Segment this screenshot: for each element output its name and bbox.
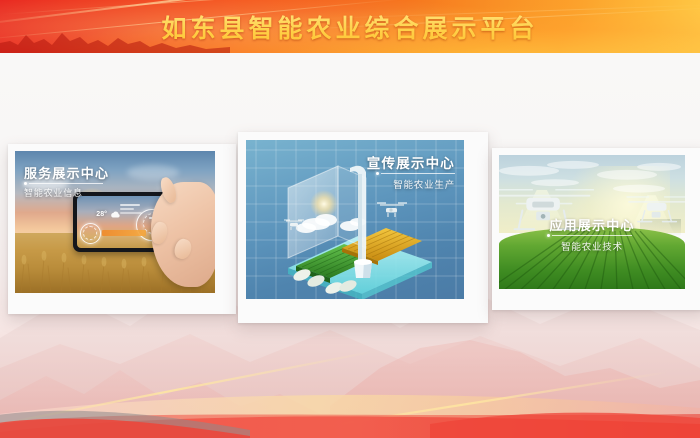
drone-icon-right [377, 203, 407, 217]
card-service-artwork: 28° 服务展示中心 智能农业信息 [15, 151, 215, 293]
card-service-title: 服务展示中心 [24, 163, 109, 182]
page-root: 如东县智能农业综合展示平台 [0, 0, 700, 438]
hud-bar [120, 204, 140, 206]
card-service-subtitle: 智能农业信息 [24, 186, 83, 199]
card-promotion-center[interactable]: 宣传展示中心 智能农业生产 [238, 132, 488, 323]
title-underline [552, 235, 632, 236]
temperature-readout: 28° [96, 211, 107, 218]
title-underline [381, 173, 455, 174]
hud-bar [120, 208, 134, 210]
title-underline [29, 183, 103, 184]
card-promotion-title: 宣传展示中心 [367, 152, 455, 172]
card-promotion-artwork: 宣传展示中心 智能农业生产 [246, 140, 464, 299]
rule-dot [24, 182, 27, 185]
rule-dot [547, 234, 550, 237]
hud-bar [120, 212, 142, 214]
card-application-subtitle: 智能农业技术 [499, 239, 685, 253]
data-chip-bar [102, 230, 146, 236]
hud-ring-icon [83, 226, 97, 240]
header-banner: 如东县智能农业综合展示平台 [0, 0, 700, 53]
card-service-center[interactable]: 28° 服务展示中心 智能农业信息 [8, 144, 236, 314]
page-title: 如东县智能农业综合展示平台 [0, 0, 700, 53]
card-application-center[interactable]: 应用展示中心 智能农业技术 [492, 148, 700, 310]
rule-dot [376, 172, 379, 175]
weather-cloud-icon [110, 210, 121, 219]
card-promotion-subtitle: 智能农业生产 [393, 177, 455, 191]
card-application-title: 应用展示中心 [499, 215, 685, 234]
card-application-artwork: 应用展示中心 智能农业技术 [499, 155, 685, 289]
